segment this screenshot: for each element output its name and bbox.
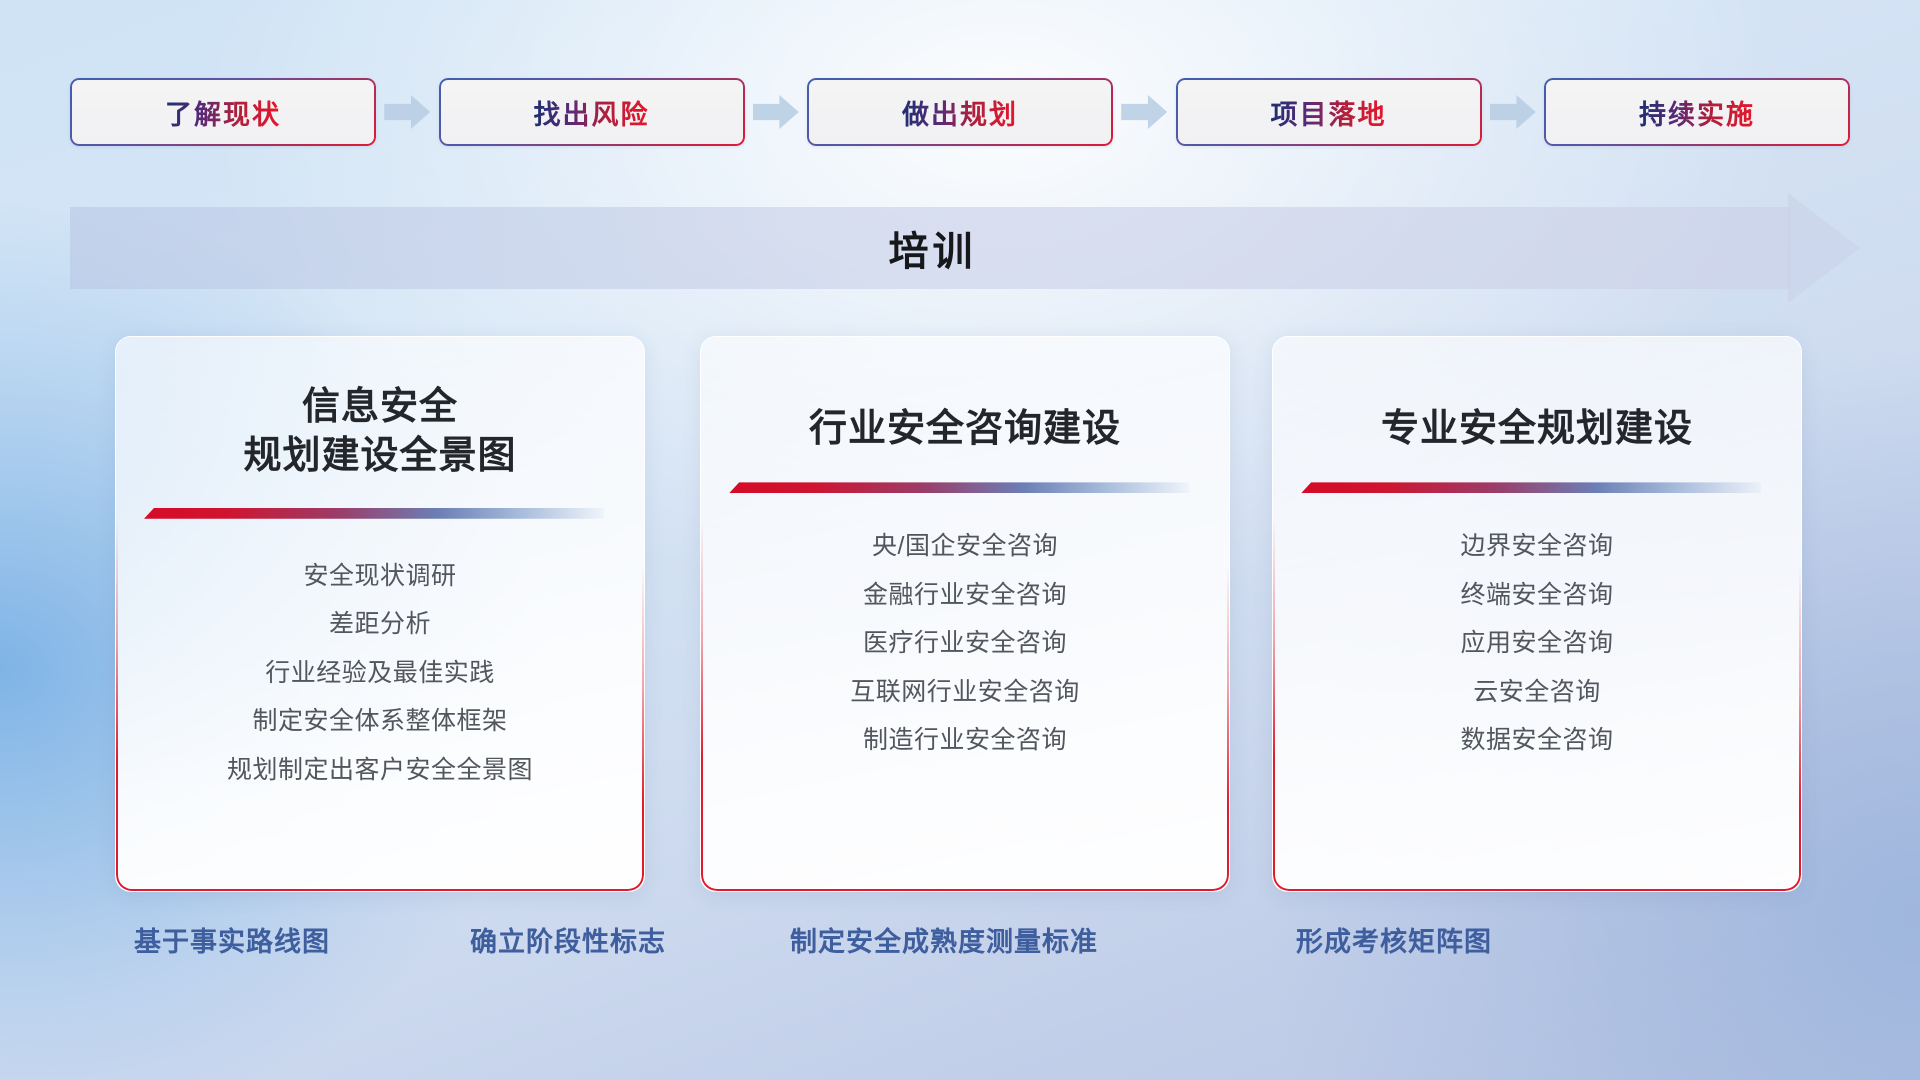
process-step-label: 了解现状 (165, 93, 281, 132)
step-wrap-4: 持续实施 (1544, 78, 1850, 146)
process-step-1[interactable]: 找出风险 (439, 78, 745, 146)
training-band: 培训 (70, 207, 1855, 289)
list-item: 互联网行业安全咨询 (701, 674, 1229, 712)
list-item: 安全现状调研 (116, 558, 644, 596)
card-divider-bar (729, 482, 1189, 493)
card-title: 行业安全咨询建设 (701, 405, 1229, 454)
card-item-list: 央/国企安全咨询 金融行业安全咨询 医疗行业安全咨询 互联网行业安全咨询 制造行… (701, 528, 1229, 760)
process-step-label: 项目落地 (1271, 93, 1387, 132)
card-item-list: 边界安全咨询 终端安全咨询 应用安全咨询 云安全咨询 数据安全咨询 (1273, 528, 1801, 760)
card-title-line: 信息安全 (140, 383, 620, 432)
list-item: 医疗行业安全咨询 (701, 625, 1229, 663)
card-title: 专业安全规划建设 (1273, 405, 1801, 454)
list-item: 云安全咨询 (1273, 674, 1801, 712)
list-item: 规划制定出客户安全全景图 (116, 752, 644, 790)
step-wrap-0: 了解现状 (70, 78, 376, 146)
process-step-row: 了解现状 找出风险 做出规划 项目落地 持续实施 (70, 78, 1850, 146)
card-title-line: 行业安全咨询建设 (725, 405, 1205, 454)
step-wrap-3: 项目落地 (1176, 78, 1482, 146)
list-item: 终端安全咨询 (1273, 577, 1801, 615)
arrow-right-icon (1121, 95, 1167, 129)
infographic-stage: 了解现状 找出风险 做出规划 项目落地 持续实施 (0, 0, 1920, 1080)
list-item: 行业经验及最佳实践 (116, 655, 644, 693)
list-item: 应用安全咨询 (1273, 625, 1801, 663)
list-item: 数据安全咨询 (1273, 722, 1801, 760)
card-divider (1301, 482, 1761, 496)
card-title: 信息安全 规划建设全景图 (116, 383, 644, 482)
footer-label-row: 基于事实路线图 确立阶段性标志 制定安全成熟度测量标准 形成考核矩阵图 (0, 920, 1920, 980)
process-step-2[interactable]: 做出规划 (807, 78, 1113, 146)
card-item-list: 安全现状调研 差距分析 行业经验及最佳实践 制定安全体系整体框架 规划制定出客户… (116, 558, 644, 790)
process-step-label: 找出风险 (534, 93, 650, 132)
card-divider (729, 482, 1189, 496)
list-item: 差距分析 (116, 606, 644, 644)
list-item: 制造行业安全咨询 (701, 722, 1229, 760)
footer-label-1: 确立阶段性标志 (470, 920, 666, 959)
card-title-line: 规划建设全景图 (140, 432, 620, 481)
list-item: 制定安全体系整体框架 (116, 703, 644, 741)
process-step-label: 做出规划 (902, 93, 1018, 132)
step-wrap-1: 找出风险 (439, 78, 745, 146)
arrow-right-icon (384, 95, 430, 129)
card-title-line: 专业安全规划建设 (1297, 405, 1777, 454)
arrow-right-icon (1490, 95, 1536, 129)
footer-label-3: 形成考核矩阵图 (1296, 920, 1492, 959)
arrow-right-icon (753, 95, 799, 129)
info-card-2[interactable]: 专业安全规划建设 边界安全咨询 终端安全咨询 应用安全咨询 云安全咨询 数据安全… (1272, 336, 1802, 892)
process-step-3[interactable]: 项目落地 (1176, 78, 1482, 146)
card-divider (144, 508, 604, 522)
footer-label-0: 基于事实路线图 (134, 920, 330, 959)
process-step-0[interactable]: 了解现状 (70, 78, 376, 146)
card-divider-bar (1301, 482, 1761, 493)
process-step-4[interactable]: 持续实施 (1544, 78, 1850, 146)
card-divider-bar (144, 508, 604, 519)
info-card-0[interactable]: 信息安全 规划建设全景图 安全现状调研 差距分析 行业经验及最佳实践 制定安全体… (115, 336, 645, 892)
list-item: 边界安全咨询 (1273, 528, 1801, 566)
training-band-label: 培训 (70, 207, 1855, 289)
process-step-label: 持续实施 (1639, 93, 1755, 132)
list-item: 央/国企安全咨询 (701, 528, 1229, 566)
info-card-1[interactable]: 行业安全咨询建设 央/国企安全咨询 金融行业安全咨询 医疗行业安全咨询 互联网行… (700, 336, 1230, 892)
step-wrap-2: 做出规划 (807, 78, 1113, 146)
card-row: 信息安全 规划建设全景图 安全现状调研 差距分析 行业经验及最佳实践 制定安全体… (0, 336, 1920, 892)
footer-label-2: 制定安全成熟度测量标准 (790, 920, 1098, 959)
list-item: 金融行业安全咨询 (701, 577, 1229, 615)
